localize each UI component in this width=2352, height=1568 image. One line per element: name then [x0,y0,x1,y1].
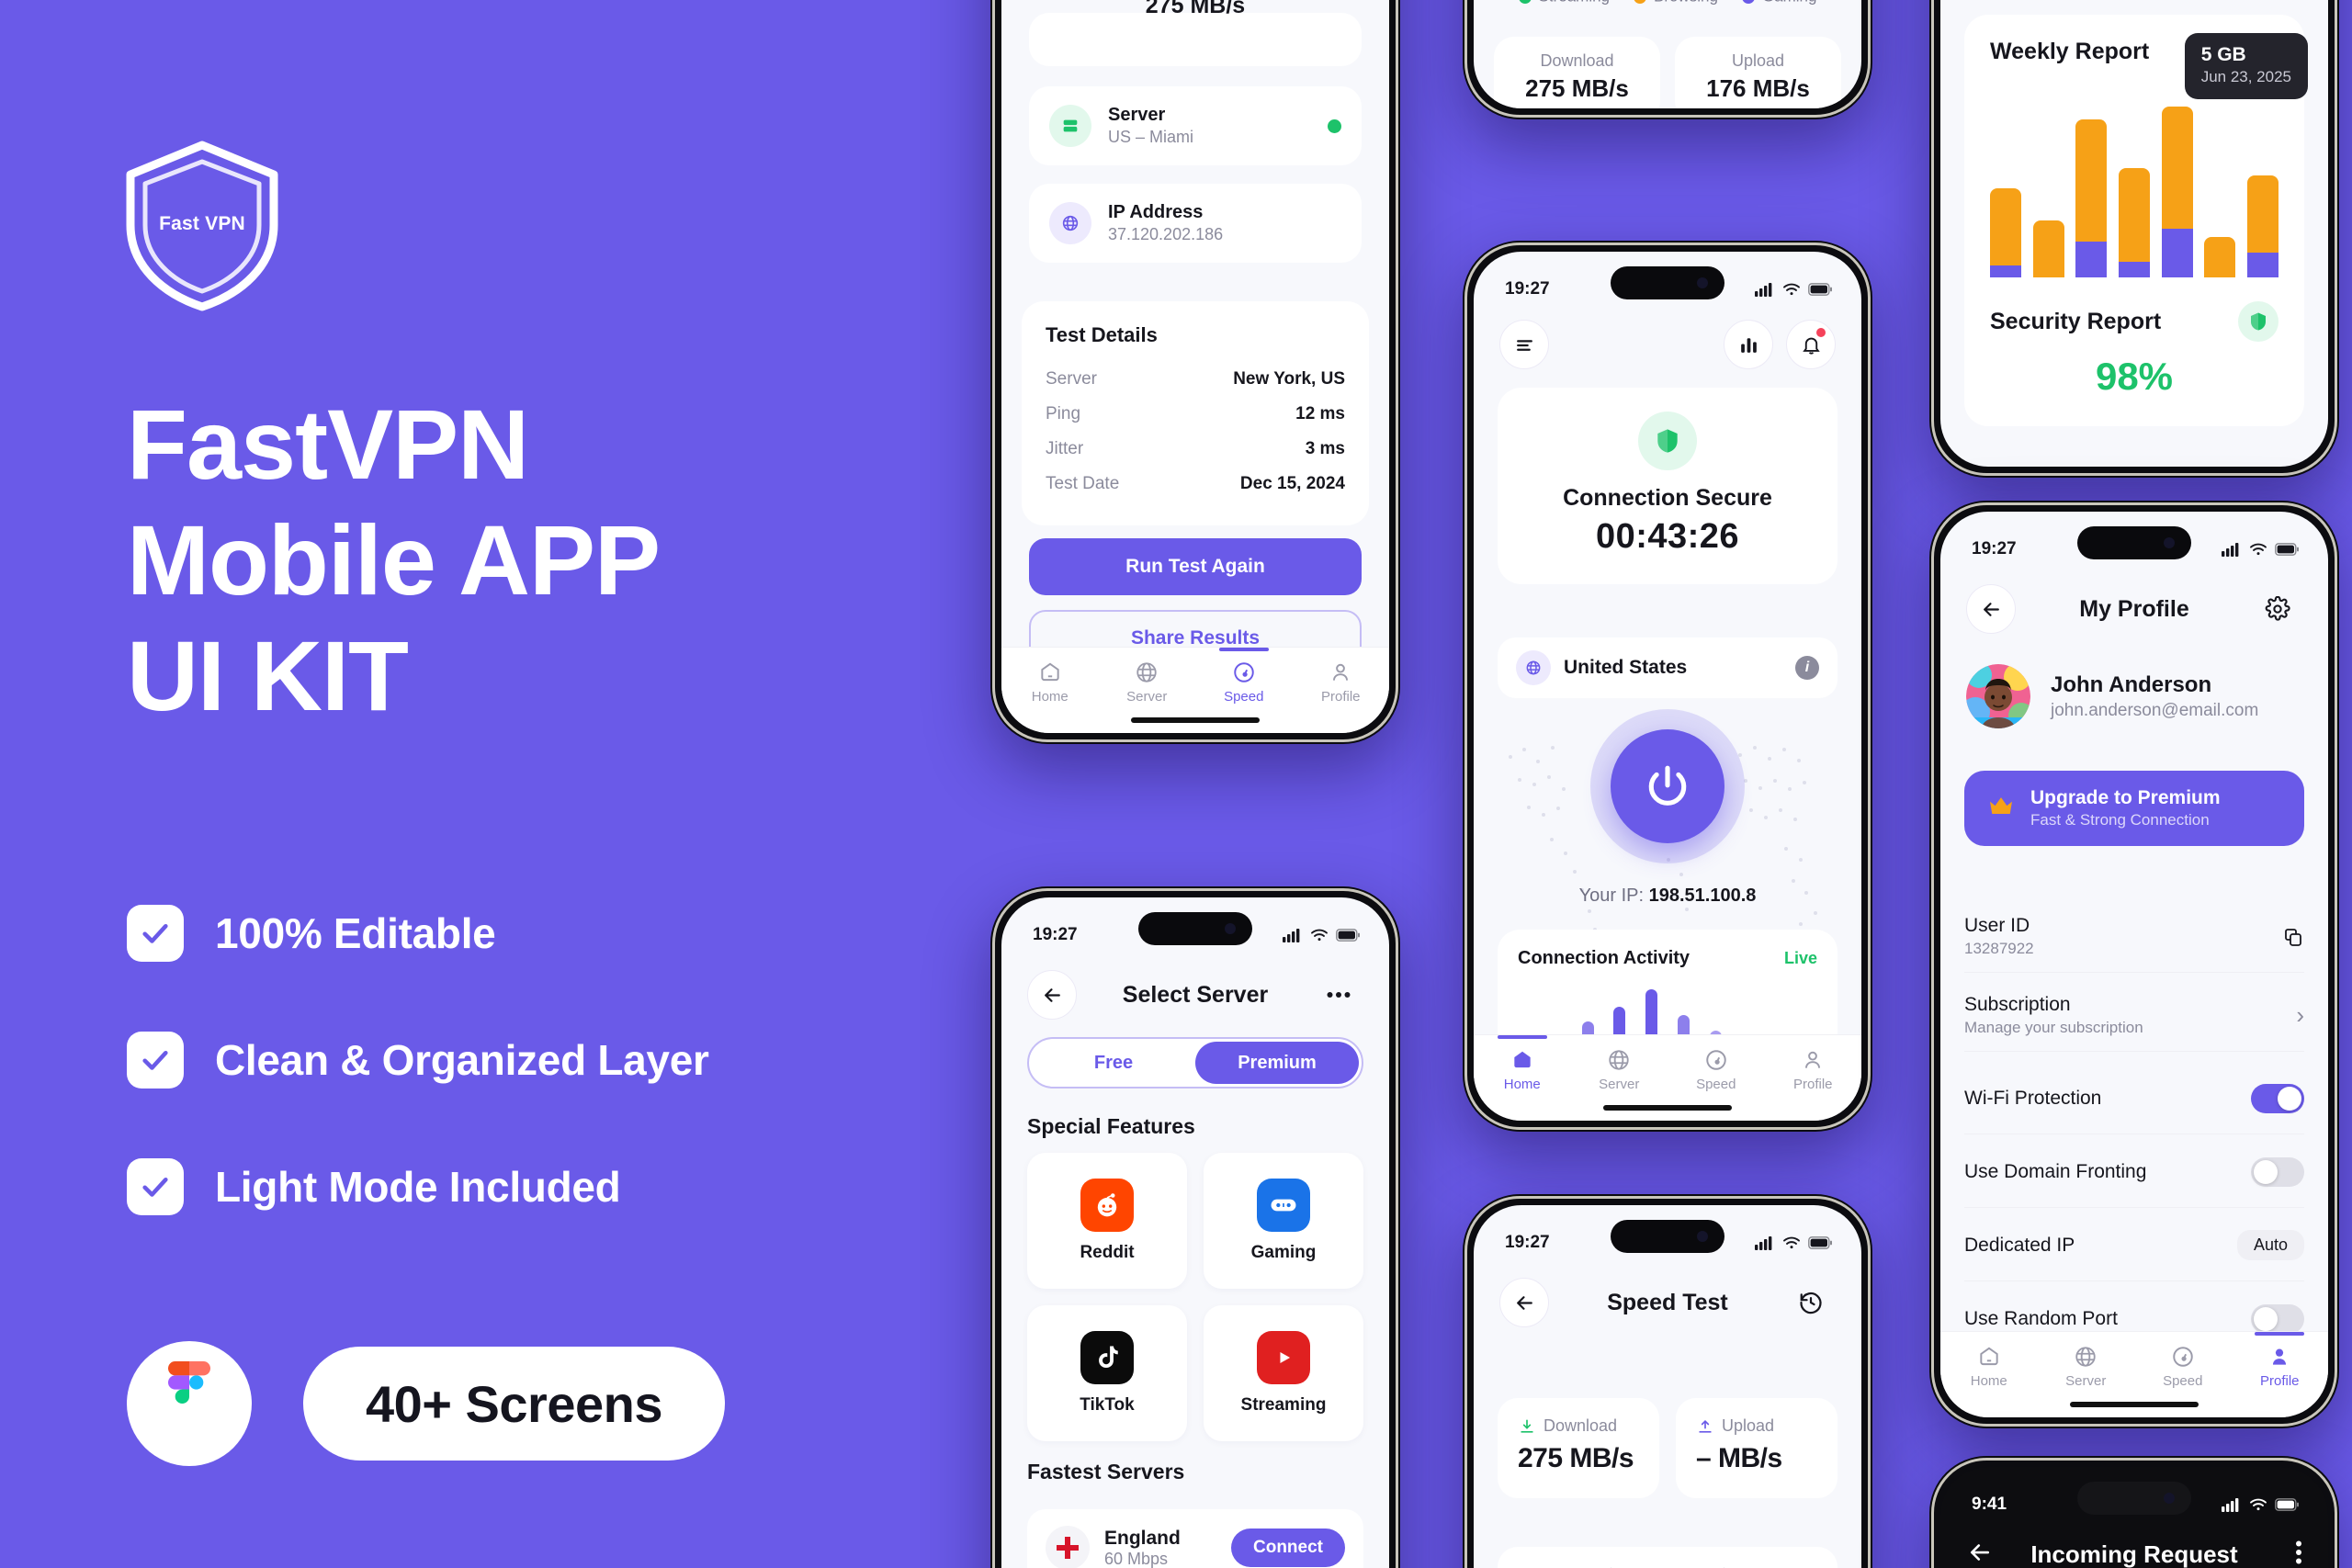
feature-item: 100% Editable [127,905,880,962]
notification-badge [1816,328,1826,337]
tooltip-date: Jun 23, 2025 [2201,68,2291,86]
wifi-icon [1782,1235,1801,1250]
special-features-grid: Reddit Gaming TikTok Streaming [1027,1153,1363,1441]
activity-header: Connection Activity Live [1518,948,1817,969]
home-icon [1510,1048,1534,1072]
avatar [1966,664,2030,728]
ip-address-row-card[interactable]: IP Address 37.120.202.186 [1029,184,1362,263]
status-time: 19:27 [1505,1233,1550,1253]
feature-item: Clean & Organized Layer [127,1032,880,1089]
tiktok-icon [1080,1331,1134,1384]
feature-card-label: Reddit [1080,1243,1134,1263]
more-horizontal-icon [1327,991,1351,998]
setting-text: Wi-Fi Protection [1964,1088,2101,1110]
home-icon [1038,660,1062,684]
youtube-play-icon [1257,1331,1310,1384]
person-icon [1329,660,1352,684]
cellular-icon [2222,542,2242,557]
nav-label: Server [2065,1373,2106,1389]
crown-icon [1986,792,2016,826]
wifi-protection-toggle[interactable] [2251,1084,2304,1113]
upgrade-title: Upgrade to Premium [2030,787,2221,809]
person-icon [2267,1345,2291,1369]
promo-panel: Fast VPN FastVPN Mobile APP UI KIT 100% … [0,0,974,1568]
more-button[interactable] [1314,970,1363,1020]
nav-label: Speed [2163,1373,2202,1389]
screens-count-badge: 40+ Screens [303,1347,725,1461]
arrow-left-icon [1513,1292,1536,1314]
download-icon [1518,1417,1536,1436]
detail-value: New York, US [1233,369,1345,389]
phone-profile: 19:27 My Profile [1929,501,2339,1428]
security-score: 98% [1990,355,2278,399]
value-pill[interactable]: Auto [2237,1230,2304,1260]
dynamic-island [1611,266,1724,299]
phone-speed-test: 19:27 Speed Test Download 275 M [1463,1194,1872,1568]
nav-label: Server [1126,689,1167,705]
status-indicators [2222,542,2299,557]
nav-item-server[interactable]: Server [1571,1048,1668,1092]
dynamic-island [1611,1220,1724,1253]
reddit-icon [1080,1179,1134,1232]
upload-card: Upload 176 MB/s [1675,37,1841,108]
arrow-left-icon [1041,984,1064,1007]
status-time: 19:27 [1972,539,2017,559]
nav-item-speed[interactable]: Speed [2134,1345,2232,1389]
special-features-heading: Special Features [1027,1114,1195,1139]
wifi-icon [2249,542,2267,557]
status-indicators [1755,282,1832,297]
setting-title: User ID [1964,915,2034,937]
badges-row: 40+ Screens [127,1341,725,1466]
phone-home: 19:27 [1463,241,1872,1132]
feature-card-gaming[interactable]: Gaming [1204,1153,1363,1289]
phone-incoming-request: 9:41 Incoming Request [1929,1456,2339,1568]
phone-select-server: 19:27 Select Server Free Premium Special… [990,886,1400,1568]
table-row: Server New York, US [1046,362,1345,397]
user-name: John Anderson [2051,672,2258,698]
download-value: 275 MB/s [1518,1443,1639,1474]
screen-header: Speed Test [1474,1273,1861,1332]
history-icon [1798,1290,1824,1315]
setting-title: Subscription [1964,994,2143,1016]
status-time: 19:27 [1033,925,1078,945]
status-dot [1328,119,1341,133]
feature-label: Clean & Organized Layer [215,1035,709,1085]
nav-label: Home [1032,689,1069,705]
upgrade-to-premium-banner[interactable]: Upgrade to Premium Fast & Strong Connect… [1964,771,2304,846]
speed-icon [2171,1345,2195,1369]
back-button[interactable] [1027,970,1077,1020]
security-report-header: Security Report [1990,301,2278,342]
setting-subtitle: 13287922 [1964,940,2034,958]
screen-home: 19:27 [1474,252,1861,1121]
cellular-icon [1755,1235,1775,1250]
menu-button[interactable] [1499,320,1549,369]
table-row: Ping 12 ms [1046,397,1345,432]
setting-title: Use Random Port [1964,1308,2118,1330]
shield-check-icon [2238,301,2278,342]
screen-header: My Profile [1940,580,2328,638]
download-card: Download 275 MB/s [1494,37,1660,108]
nav-item-home[interactable]: Home [1474,1048,1571,1092]
setting-row-domain-fronting[interactable]: Use Domain Fronting [1964,1136,2304,1208]
home-header [1499,320,1836,369]
battery-icon [1808,1236,1832,1249]
status-time: 19:27 [1505,279,1550,299]
connection-status-title: Connection Secure [1498,485,1837,512]
globe-icon [1607,1048,1631,1072]
back-button[interactable] [1499,1278,1549,1327]
legend-item-gaming: Gaming [1742,0,1817,6]
nav-active-indicator [2255,1332,2304,1336]
ip-row-title: IP Address [1108,201,1223,224]
detail-value: Dec 15, 2024 [1240,474,1345,494]
server-list-item[interactable]: England 60 Mbps Connect [1027,1509,1363,1568]
detail-key: Ping [1046,404,1080,424]
dynamic-island [2077,526,2191,559]
ip-row-subtitle: 37.120.202.186 [1108,224,1223,245]
download-card: Download 275 MB/s [1498,1398,1659,1498]
feature-card-tiktok[interactable]: TikTok [1027,1305,1187,1441]
chart-legend: Streaming Browsing Gaming [1474,0,1861,6]
download-label: Download [1494,51,1660,71]
home-indicator [2070,1402,2199,1407]
download-label: Download [1543,1416,1617,1436]
test-details-card: Test Details Server New York, US Ping 12… [1022,301,1369,525]
wifi-icon [1782,282,1801,297]
plan-segmented-control[interactable]: Free Premium [1027,1037,1363,1089]
activity-title: Connection Activity [1518,948,1690,969]
home-indicator [1131,717,1260,723]
nav-label: Speed [1696,1077,1736,1092]
setting-text: Use Random Port [1964,1308,2118,1330]
upload-label: Upload [1675,51,1841,71]
feature-label: 100% Editable [215,908,495,958]
screen-profile: 19:27 My Profile [1940,512,2328,1417]
check-icon [127,1032,184,1089]
fastvpn-shield-logo: Fast VPN [119,138,285,312]
headline-line-2: Mobile APP [127,511,889,610]
speed-icon [1704,1048,1728,1072]
phone-usage-summary: Streaming Browsing Gaming Download 275 M… [1463,0,1872,119]
nav-label: Server [1599,1077,1639,1092]
screen-select-server: 19:27 Select Server Free Premium Special… [1001,897,1389,1568]
feature-item: Light Mode Included [127,1158,880,1215]
battery-icon [1336,929,1360,942]
your-ip-value: 198.51.100.8 [1649,886,1757,906]
stats-button[interactable] [1724,320,1773,369]
power-icon [1642,761,1693,812]
info-icon[interactable]: i [1795,656,1819,680]
nav-item-home[interactable]: Home [1940,1345,2038,1389]
fastest-servers-heading: Fastest Servers [1027,1460,1184,1484]
setting-row-subscription[interactable]: Subscription Manage your subscription › [1964,980,2304,1052]
table-row: Jitter 3 ms [1046,432,1345,467]
setting-subtitle: Manage your subscription [1964,1019,2143,1037]
nav-item-profile[interactable]: Profile [1765,1048,1862,1092]
setting-text: User ID 13287922 [1964,915,2034,958]
screens-count-label: 40+ Screens [366,1374,662,1434]
upgrade-subtitle: Fast & Strong Connection [2030,811,2221,829]
dynamic-island [2077,1482,2191,1515]
battery-icon [2275,543,2299,556]
logo-text: Fast VPN [119,213,285,235]
setting-text: Subscription Manage your subscription [1964,994,2143,1037]
legend-label: Browsing [1654,0,1718,6]
gear-icon [2265,596,2290,622]
download-label-row: Download [1518,1416,1639,1436]
power-button-halo [1590,709,1745,863]
england-flag-icon [1046,1526,1090,1568]
screen-header: Select Server [1001,965,1389,1024]
toggle-switch[interactable] [2251,1157,2304,1187]
setting-text: Dedicated IP [1964,1235,2075,1257]
feature-label: Light Mode Included [215,1162,620,1212]
arrow-left-icon [1980,598,2003,621]
globe-icon [2074,1345,2098,1369]
feature-card-reddit[interactable]: Reddit [1027,1153,1187,1289]
legend-label: Streaming [1539,0,1610,6]
status-indicators [2222,1497,2299,1512]
upload-value: 176 MB/s [1675,74,1841,103]
profile-user-block: John Anderson john.anderson@email.com [1966,664,2302,728]
speed-icon [1232,660,1256,684]
setting-row-user-id[interactable]: User ID 13287922 [1964,901,2304,973]
upload-label: Upload [1722,1416,1774,1436]
nav-item-profile[interactable]: Profile [1293,660,1390,705]
toggle-switch[interactable] [2251,1304,2304,1334]
setting-row-dedicated-ip[interactable]: Dedicated IP Auto [1964,1210,2304,1281]
setting-title: Use Domain Fronting [1964,1161,2146,1183]
shield-check-icon [1638,412,1697,470]
your-ip-label: Your IP: [1579,886,1644,906]
dynamic-island [1138,912,1252,945]
chevron-right-icon[interactable]: › [2296,1001,2304,1030]
feature-card-label: TikTok [1080,1395,1134,1416]
check-icon [127,1158,184,1215]
cellular-icon [2222,1497,2242,1512]
upgrade-text: Upgrade to Premium Fast & Strong Connect… [2030,787,2221,829]
domain-fronting-toggle[interactable] [2251,1157,2304,1187]
upload-label-row: Upload [1696,1416,1817,1436]
page-title: FastVPN Mobile APP UI KIT [127,395,889,742]
selected-country-card[interactable]: United States i [1498,637,1837,698]
server-row-title: Server [1108,104,1193,127]
feature-list: 100% Editable Clean & Organized Layer Li… [127,905,880,1285]
segment-premium[interactable]: Premium [1195,1042,1359,1084]
legend-label: Gaming [1762,0,1817,6]
phone-reports: Weekly Report 5 GB Jun 23, 2025 Mon Tue … [1929,0,2339,478]
wifi-icon [2249,1497,2267,1512]
nav-item-speed[interactable]: Speed [1668,1048,1765,1092]
nav-label: Profile [1793,1077,1833,1092]
setting-row-wifi-protection[interactable]: Wi-Fi Protection [1964,1063,2304,1134]
speed-stats-row: 25ms Ping 2ms Jitter 0% Loss [1498,1547,1837,1568]
your-ip-text: Your IP: 198.51.100.8 [1474,886,1861,907]
activity-live-badge: Live [1784,949,1817,968]
person-icon [1801,1048,1825,1072]
globe-icon [1135,660,1159,684]
nav-label: Profile [2260,1373,2300,1389]
speed-summary-card: 275 MB/s [1029,13,1362,66]
setting-title: Wi-Fi Protection [1964,1088,2101,1110]
detail-key: Server [1046,369,1097,389]
server-row-text: Server US – Miami [1108,104,1193,148]
server-name: England [1104,1528,1181,1550]
setting-text: Use Domain Fronting [1964,1161,2146,1183]
country-name: United States [1564,657,1687,679]
upload-icon [1696,1417,1714,1436]
nav-label: Home [1504,1077,1541,1092]
test-details-heading: Test Details [1046,323,1345,347]
cellular-icon [1755,282,1775,297]
globe-icon [1516,650,1551,685]
upload-card: Upload – MB/s [1676,1398,1837,1498]
back-button[interactable] [1966,584,2016,634]
headline-line-3: UI KIT [127,626,889,726]
security-report-card: Security Report 98% [1964,277,2304,426]
nav-item-profile[interactable]: Profile [2232,1345,2329,1389]
detail-key: Test Date [1046,474,1119,494]
header-actions [1724,320,1836,369]
bar-chart-icon [1737,333,1760,356]
screen-header: Incoming Request [1966,1539,2302,1568]
setting-title: Dedicated IP [1964,1235,2075,1257]
connect-button[interactable]: Connect [1231,1529,1345,1567]
battery-icon [2275,1498,2299,1511]
home-icon [1977,1345,2001,1369]
screen-incoming-request: 9:41 Incoming Request [1940,1467,2328,1568]
status-time: 9:41 [1972,1495,2007,1515]
nav-label: Profile [1321,689,1361,705]
globe-icon [1049,202,1091,244]
feature-card-label: Gaming [1251,1243,1317,1263]
status-indicators [1283,928,1360,942]
ip-row-text: IP Address 37.120.202.186 [1108,201,1223,245]
nav-item-server[interactable]: Server [1099,660,1196,705]
tooltip-value: 5 GB [2201,44,2291,66]
screen-usage: Streaming Browsing Gaming Download 275 M… [1474,0,1861,108]
feature-card-streaming[interactable]: Streaming [1204,1305,1363,1441]
cellular-icon [1283,928,1303,942]
page-title: Incoming Request [1966,1540,2302,1568]
nav-item-speed[interactable]: Speed [1195,660,1293,705]
nav-item-home[interactable]: Home [1001,660,1099,705]
gamepad-icon [1257,1179,1310,1232]
security-report-title: Security Report [1990,309,2161,335]
nav-active-indicator [1498,1035,1547,1039]
detail-value: 3 ms [1306,439,1345,459]
run-test-again-button[interactable]: Run Test Again [1029,538,1362,595]
detail-key: Jitter [1046,439,1083,459]
home-indicator [1603,1105,1732,1111]
toggle-switch[interactable] [2251,1084,2304,1113]
screen-speed-test: 19:27 Speed Test Download 275 M [1474,1205,1861,1568]
nav-active-indicator [1219,648,1269,651]
speed-summary-value: 275 MB/s [1029,0,1362,19]
nav-label: Speed [1224,689,1263,705]
user-email: john.anderson@email.com [2051,701,2258,721]
speed-metrics: Download 275 MB/s Upload – MB/s [1498,1398,1837,1498]
random-port-toggle[interactable] [2251,1304,2304,1334]
battery-icon [1808,283,1832,296]
figma-logo-icon [127,1341,252,1466]
nav-label: Home [1971,1373,2007,1389]
profile-user-text: John Anderson john.anderson@email.com [2051,672,2258,721]
status-indicators [1755,1235,1832,1250]
headline-line-1: FastVPN [127,395,889,494]
server-icon [1049,105,1091,147]
upload-value: – MB/s [1696,1443,1817,1474]
screen-reports: Weekly Report 5 GB Jun 23, 2025 Mon Tue … [1940,0,2328,467]
check-icon [127,905,184,962]
screen-speed-result: 275 MB/s Server US – Miami IP [1001,0,1389,733]
menu-icon [1513,333,1536,356]
table-row: Test Date Dec 15, 2024 [1046,467,1345,502]
connection-timer: 00:43:26 [1498,517,1837,557]
server-row-card[interactable]: Server US – Miami [1029,86,1362,165]
wifi-icon [1310,928,1329,942]
chart-tooltip: 5 GB Jun 23, 2025 [2185,33,2308,99]
connection-status-card: Connection Secure 00:43:26 [1498,388,1837,584]
server-speed: 60 Mbps [1104,1550,1181,1568]
power-button[interactable] [1611,729,1724,843]
detail-value: 12 ms [1295,404,1345,424]
legend-item-browsing: Browsing [1634,0,1718,6]
settings-button[interactable] [2253,584,2302,634]
notifications-button[interactable] [1786,320,1836,369]
download-value: 275 MB/s [1494,74,1660,103]
server-item-text: England 60 Mbps [1104,1528,1181,1568]
nav-item-server[interactable]: Server [2038,1345,2135,1389]
dedicated-ip-value[interactable]: Auto [2237,1230,2304,1260]
phone-speed-test-result: 275 MB/s Server US – Miami IP [990,0,1400,744]
download-upload-summary: Download 275 MB/s Upload 176 MB/s [1494,37,1841,108]
feature-card-label: Streaming [1241,1395,1327,1416]
copy-icon[interactable] [2282,926,2304,948]
segment-free[interactable]: Free [1032,1042,1195,1084]
server-row-subtitle: US – Miami [1108,127,1193,148]
history-button[interactable] [1786,1278,1836,1327]
legend-item-streaming: Streaming [1519,0,1610,6]
